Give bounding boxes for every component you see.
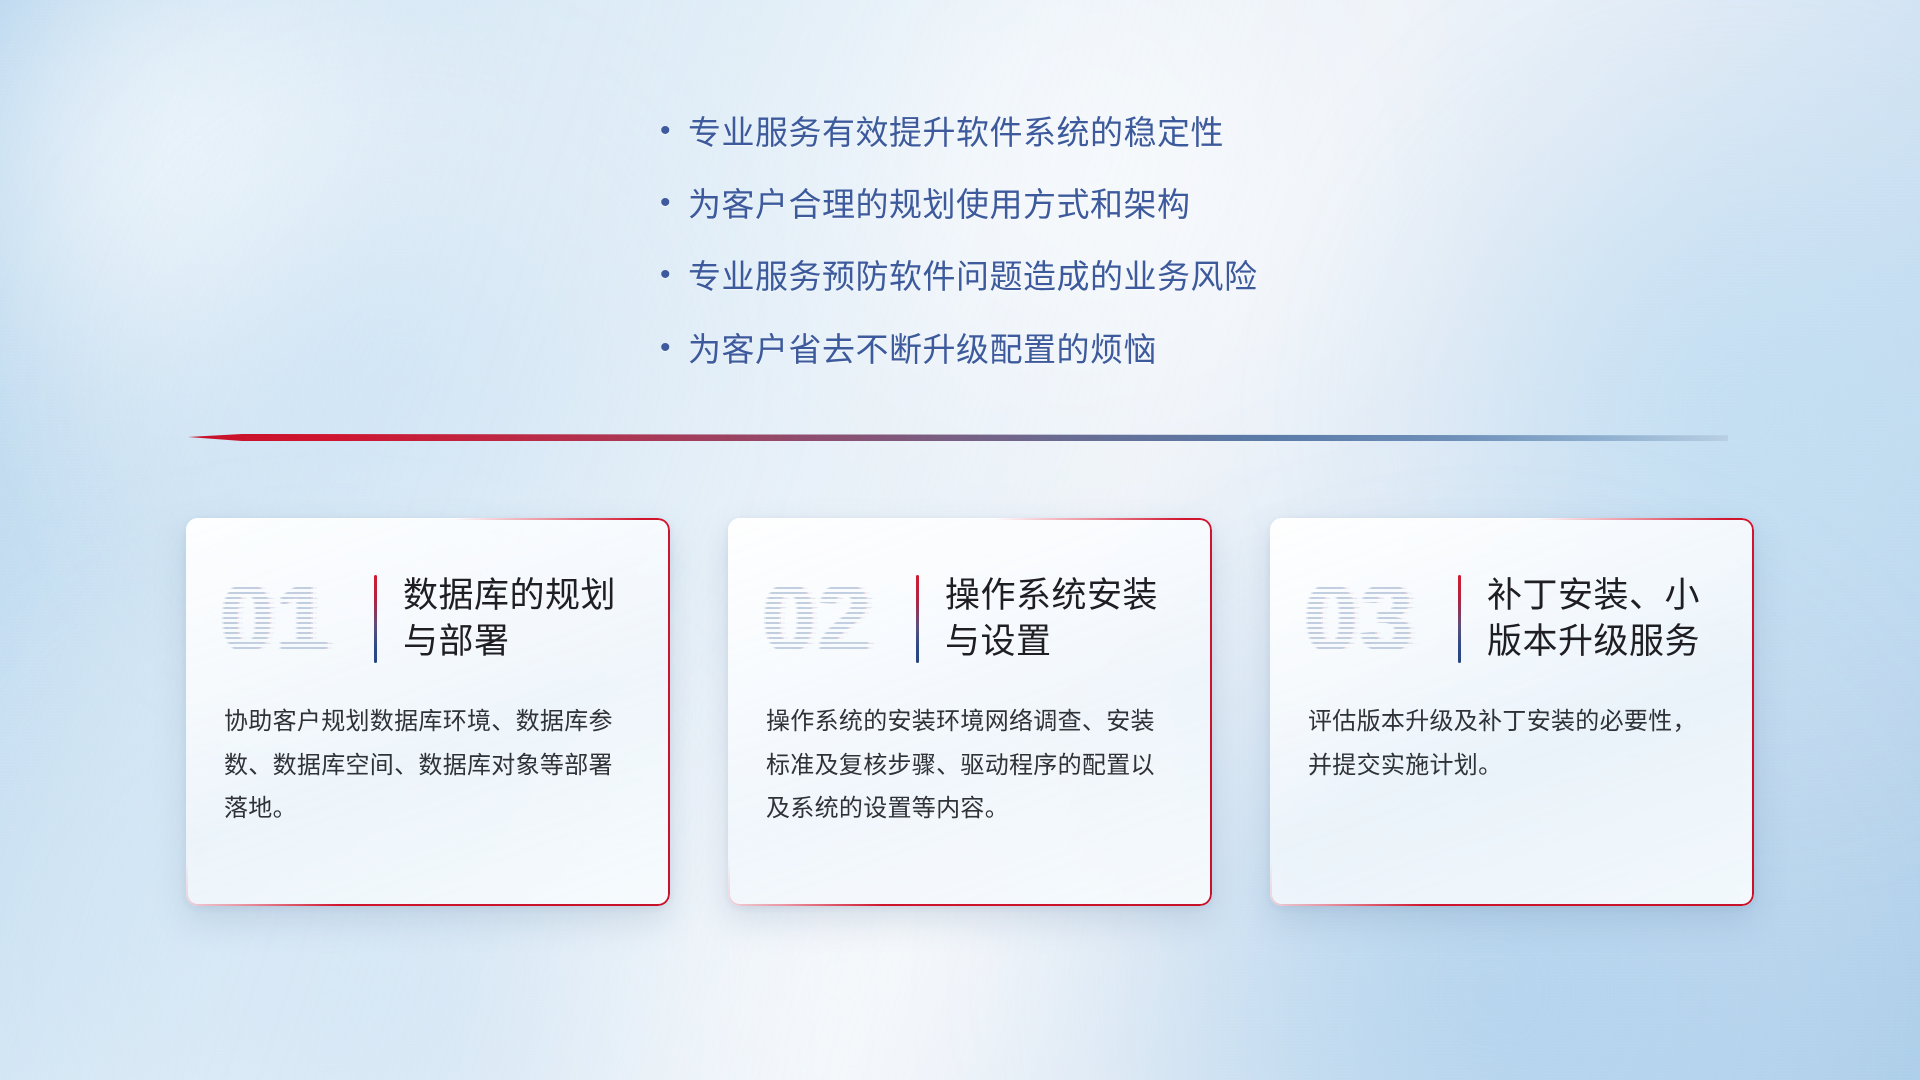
card-number-glitch-layer: 03 <box>1309 564 1457 674</box>
bullet-text: 专业服务预防软件问题造成的业务风险 <box>688 256 1420 298</box>
card-header: 0303 补丁安装、小版本升级服务 <box>1270 518 1754 686</box>
card-number: 0101 <box>220 564 368 674</box>
card-number-glitch-layer: 02 <box>767 564 915 674</box>
bullet-text: 专业服务有效提升软件系统的稳定性 <box>688 112 1420 154</box>
bullet-text: 为客户合理的规划使用方式和架构 <box>688 184 1420 226</box>
bullet-dot-icon: • <box>660 260 688 290</box>
bullet-dot-icon: • <box>660 188 688 218</box>
service-card[interactable]: 0303 补丁安装、小版本升级服务 评估版本升级及补丁安装的必要性，并提交实施计… <box>1270 518 1754 906</box>
card-header: 0101 数据库的规划与部署 <box>186 518 670 686</box>
card-title: 操作系统安装与设置 <box>945 573 1178 665</box>
card-description: 评估版本升级及补丁安装的必要性，并提交实施计划。 <box>1270 686 1754 787</box>
list-item: • 为客户合理的规划使用方式和架构 <box>660 184 1420 226</box>
list-item: • 专业服务有效提升软件系统的稳定性 <box>660 112 1420 154</box>
card-accent-bar <box>916 575 919 663</box>
service-cards: 0101 数据库的规划与部署 协助客户规划数据库环境、数据库参数、数据库空间、数… <box>186 518 1754 906</box>
card-header: 0202 操作系统安装与设置 <box>728 518 1212 686</box>
list-item: • 为客户省去不断升级配置的烦恼 <box>660 329 1420 371</box>
service-card[interactable]: 0202 操作系统安装与设置 操作系统的安装环境网络调查、安装标准及复核步骤、驱… <box>728 518 1212 906</box>
benefits-bullet-list: • 专业服务有效提升软件系统的稳定性 • 为客户合理的规划使用方式和架构 • 专… <box>660 112 1420 371</box>
list-item: • 专业服务预防软件问题造成的业务风险 <box>660 256 1420 298</box>
card-description: 操作系统的安装环境网络调查、安装标准及复核步骤、驱动程序的配置以及系统的设置等内… <box>728 686 1212 831</box>
card-accent-bar <box>1458 575 1461 663</box>
card-number: 0303 <box>1304 564 1452 674</box>
bullet-text: 为客户省去不断升级配置的烦恼 <box>688 329 1420 371</box>
card-number-glitch-layer: 01 <box>225 564 373 674</box>
divider-line <box>188 434 1728 441</box>
section-divider <box>188 430 1728 444</box>
card-number: 0202 <box>762 564 910 674</box>
card-title: 补丁安装、小版本升级服务 <box>1487 573 1720 665</box>
bullet-dot-icon: • <box>660 116 688 146</box>
service-card[interactable]: 0101 数据库的规划与部署 协助客户规划数据库环境、数据库参数、数据库空间、数… <box>186 518 670 906</box>
card-accent-bar <box>374 575 377 663</box>
card-title: 数据库的规划与部署 <box>403 573 636 665</box>
card-description: 协助客户规划数据库环境、数据库参数、数据库空间、数据库对象等部署落地。 <box>186 686 670 831</box>
bullet-dot-icon: • <box>660 333 688 363</box>
